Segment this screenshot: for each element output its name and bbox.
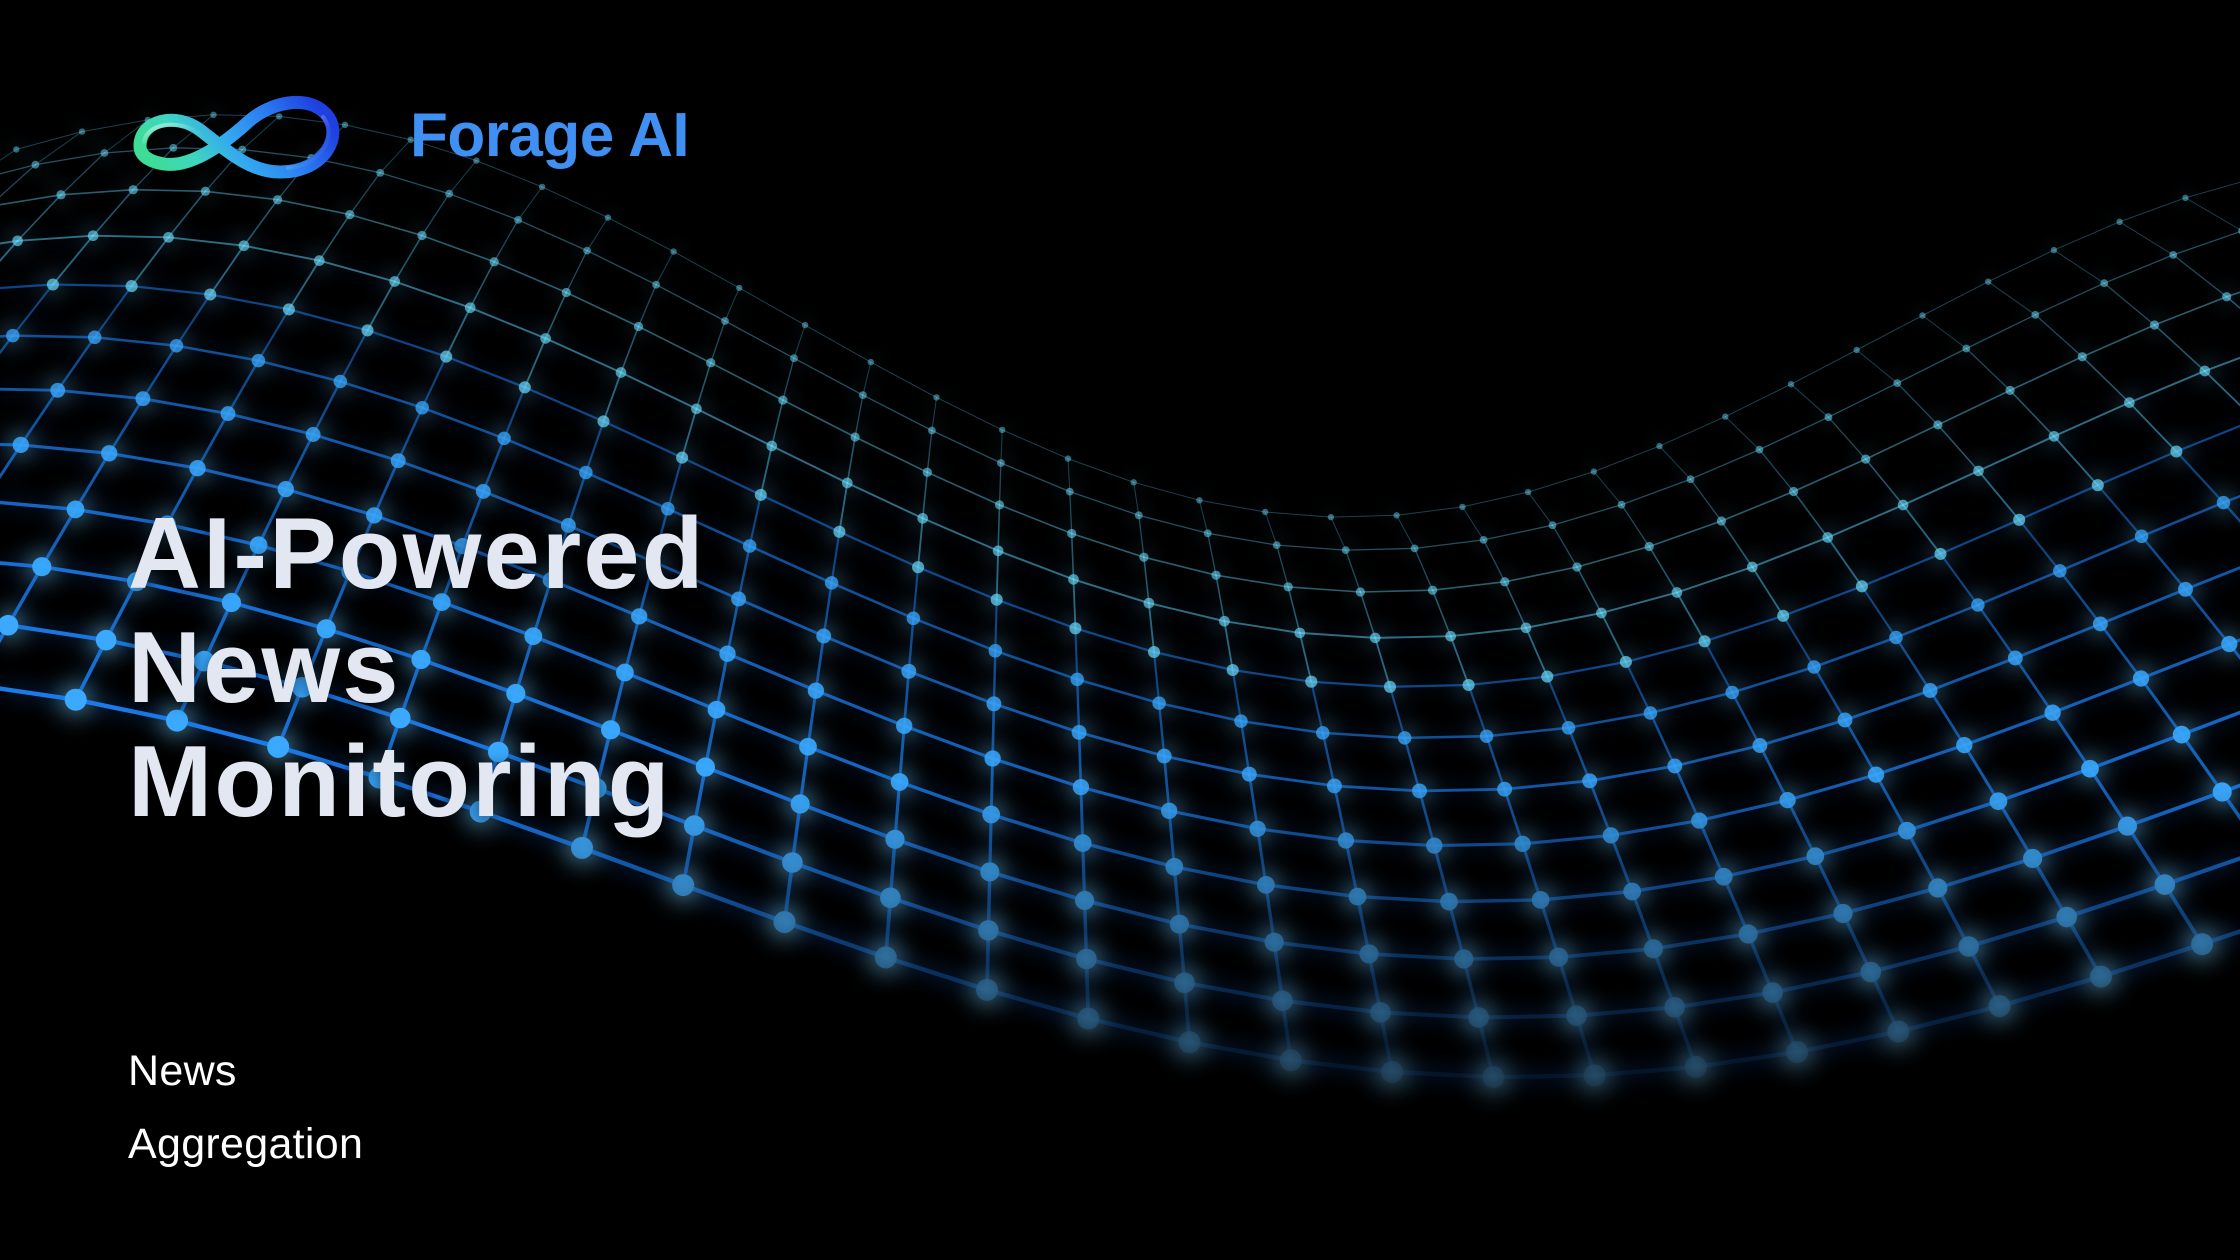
category-label: News Aggregation xyxy=(128,1035,363,1181)
page-title: AI-Powered News Monitoring xyxy=(128,497,706,839)
hero-banner: Forage AI AI-Powered News Monitoring New… xyxy=(0,0,2240,1260)
forage-ai-infinity-logo-icon xyxy=(130,88,388,184)
brand-name: Forage AI xyxy=(410,105,689,167)
brand-logo[interactable]: Forage AI xyxy=(130,88,689,184)
